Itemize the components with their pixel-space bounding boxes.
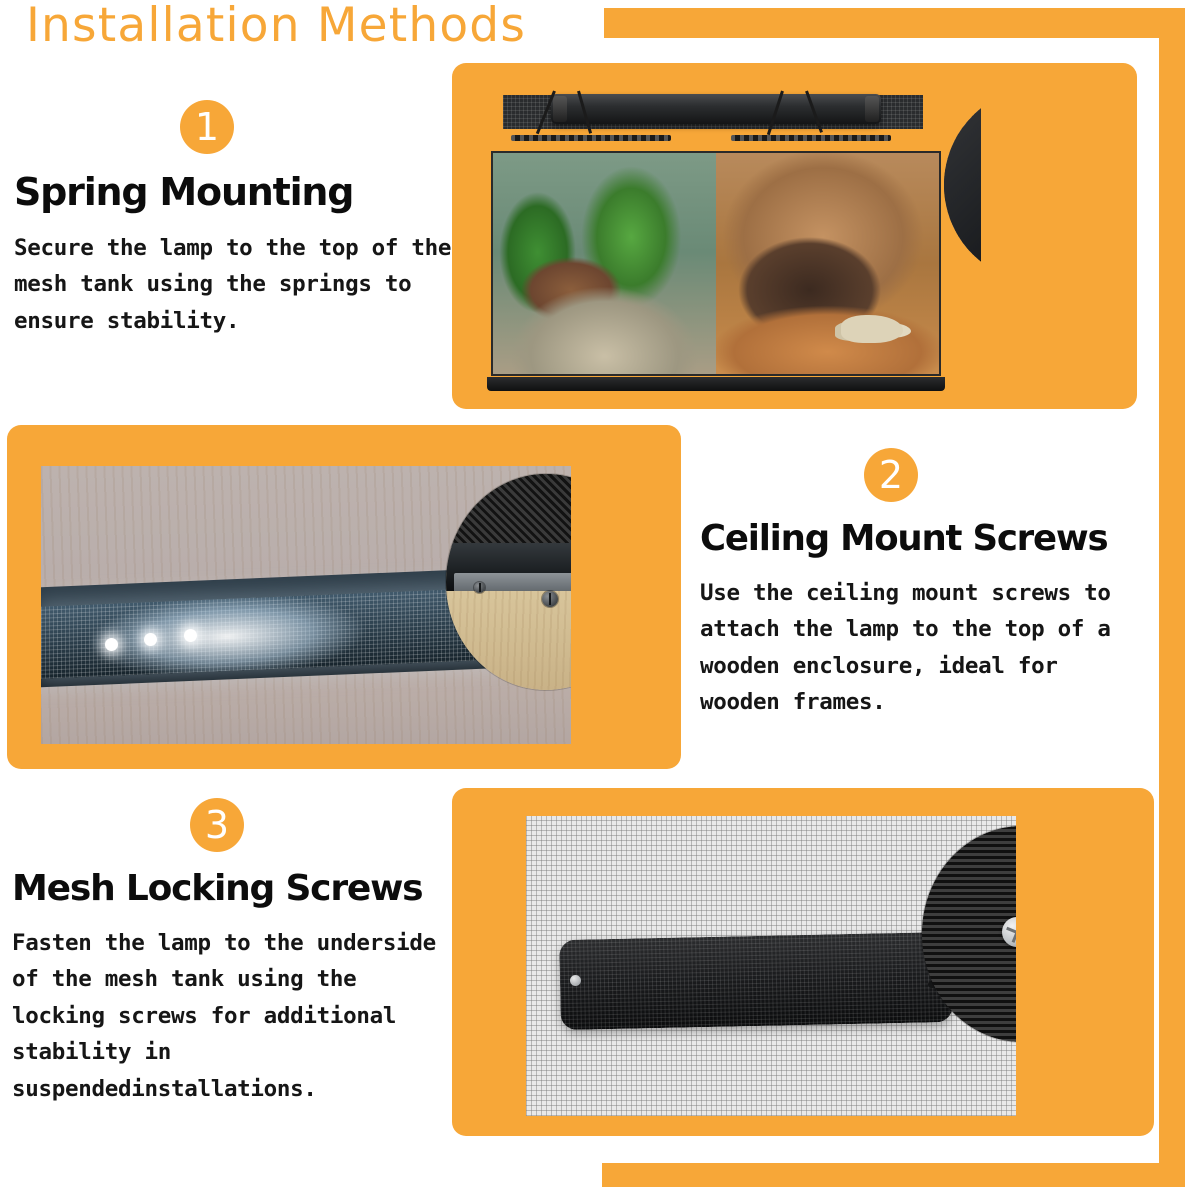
lid-vent-left (511, 135, 671, 141)
inset-mesh-top (446, 474, 571, 547)
ceiling-mount-photo (41, 466, 571, 744)
inset-screw-left (474, 582, 485, 593)
section-3-heading: Mesh Locking Screws (12, 868, 462, 909)
habitat-tropical (493, 153, 716, 374)
section-3-text: 3 Mesh Locking Screws Fasten the lamp to… (12, 798, 462, 1107)
section-3-image-panel (452, 788, 1154, 1136)
lamp-endcap-right (865, 96, 879, 122)
step-badge-3: 3 (190, 798, 244, 852)
frame-top-bar (604, 8, 1185, 38)
infographic-page: Installation Methods 1 Spring Mounting S… (0, 0, 1185, 1187)
tank-glass (491, 151, 941, 376)
lid-vent-right (731, 135, 891, 141)
terrarium-tank (481, 91, 951, 391)
frame-right-bar (1159, 8, 1185, 1187)
section-1-image-panel (452, 63, 1137, 409)
inset-screw-center (542, 591, 558, 607)
section-3-body: Fasten the lamp to the underside of the … (12, 925, 462, 1107)
led-dot-3 (184, 629, 197, 642)
led-lamp-bar (551, 94, 881, 124)
section-2-body: Use the ceiling mount screws to attach t… (700, 575, 1120, 721)
frame-bottom-bar (602, 1163, 1185, 1187)
mesh-spring-closeup-inset (944, 87, 981, 283)
section-2-text: 2 Ceiling Mount Screws Use the ceiling m… (700, 448, 1120, 721)
locking-screw-closeup-inset (922, 826, 1016, 1042)
section-1-body: Secure the lamp to the top of the mesh t… (14, 230, 454, 339)
section-2-image-panel (7, 425, 681, 769)
tank-base (487, 377, 945, 391)
section-1-heading: Spring Mounting (14, 170, 454, 214)
step-badge-1: 1 (180, 100, 234, 154)
led-dot-1 (105, 638, 118, 651)
habitat-desert (716, 153, 939, 374)
mesh-lock-photo (526, 816, 1016, 1116)
lamp-endcap-left (553, 96, 567, 122)
decor-skull (841, 315, 903, 343)
page-title: Installation Methods (26, 0, 526, 53)
step-badge-2: 2 (864, 448, 918, 502)
lamp-on-mesh (559, 932, 953, 1030)
section-2-heading: Ceiling Mount Screws (700, 518, 1120, 559)
section-1-text: 1 Spring Mounting Secure the lamp to the… (14, 100, 454, 339)
terrarium-photo (481, 73, 981, 395)
bracket-screw-closeup-inset (446, 474, 571, 690)
inset-lamp-edge (944, 87, 981, 271)
